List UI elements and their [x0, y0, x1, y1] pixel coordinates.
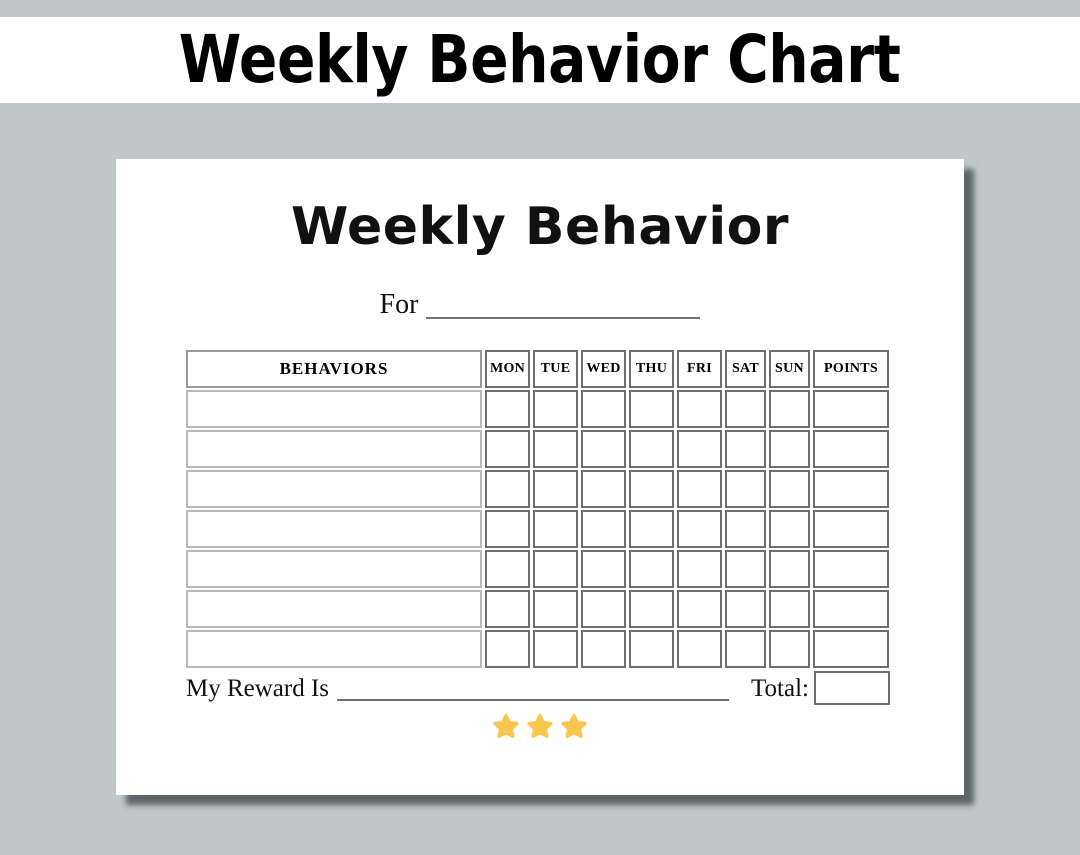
column-header-points: POINTS: [813, 350, 889, 388]
for-label: For: [380, 291, 419, 322]
day-check-cell-sun[interactable]: [769, 510, 810, 548]
reward-write-in-line[interactable]: [337, 699, 729, 701]
star-icon: [525, 711, 555, 746]
behavior-input-cell[interactable]: [186, 630, 482, 668]
star-rating: [186, 711, 894, 746]
day-check-cell-wed[interactable]: [581, 630, 626, 668]
column-header-tue: TUE: [533, 350, 578, 388]
footer-row: My Reward Is Total:: [186, 671, 894, 705]
banner-title: Weekly Behavior Chart: [179, 27, 901, 93]
day-check-cell-tue[interactable]: [533, 470, 578, 508]
points-cell[interactable]: [813, 590, 889, 628]
day-check-cell-wed[interactable]: [581, 470, 626, 508]
table-header-row: BEHAVIORS MON TUE WED THU FRI SAT SUN PO…: [186, 350, 894, 388]
day-check-cell-sun[interactable]: [769, 550, 810, 588]
points-cell[interactable]: [813, 470, 889, 508]
table-row: [186, 510, 894, 548]
behavior-table: BEHAVIORS MON TUE WED THU FRI SAT SUN PO…: [186, 350, 894, 670]
day-check-cell-sun[interactable]: [769, 430, 810, 468]
day-check-cell-thu[interactable]: [629, 590, 674, 628]
day-check-cell-wed[interactable]: [581, 430, 626, 468]
day-check-cell-mon[interactable]: [485, 390, 530, 428]
points-cell[interactable]: [813, 630, 889, 668]
table-row: [186, 390, 894, 428]
day-check-cell-fri[interactable]: [677, 390, 722, 428]
column-header-behaviors: BEHAVIORS: [186, 350, 482, 388]
day-check-cell-fri[interactable]: [677, 430, 722, 468]
points-cell[interactable]: [813, 430, 889, 468]
star-icon: [559, 711, 589, 746]
day-check-cell-sat[interactable]: [725, 510, 766, 548]
day-check-cell-tue[interactable]: [533, 590, 578, 628]
points-cell[interactable]: [813, 550, 889, 588]
day-check-cell-mon[interactable]: [485, 630, 530, 668]
day-check-cell-sat[interactable]: [725, 550, 766, 588]
column-header-mon: MON: [485, 350, 530, 388]
points-cell[interactable]: [813, 510, 889, 548]
printable-chart-card: Weekly Behavior For BEHAVIORS MON TUE WE…: [116, 159, 964, 795]
day-check-cell-wed[interactable]: [581, 390, 626, 428]
day-check-cell-thu[interactable]: [629, 550, 674, 588]
day-check-cell-fri[interactable]: [677, 470, 722, 508]
for-write-in-line[interactable]: [426, 317, 700, 319]
day-check-cell-wed[interactable]: [581, 550, 626, 588]
table-row: [186, 430, 894, 468]
day-check-cell-tue[interactable]: [533, 510, 578, 548]
day-check-cell-wed[interactable]: [581, 510, 626, 548]
day-check-cell-fri[interactable]: [677, 630, 722, 668]
for-row: For: [116, 291, 964, 322]
day-check-cell-sun[interactable]: [769, 390, 810, 428]
day-check-cell-sat[interactable]: [725, 630, 766, 668]
day-check-cell-sat[interactable]: [725, 390, 766, 428]
day-check-cell-sun[interactable]: [769, 630, 810, 668]
banner: Weekly Behavior Chart: [0, 17, 1080, 103]
day-check-cell-sat[interactable]: [725, 470, 766, 508]
behavior-input-cell[interactable]: [186, 550, 482, 588]
column-header-fri: FRI: [677, 350, 722, 388]
day-check-cell-thu[interactable]: [629, 510, 674, 548]
day-check-cell-thu[interactable]: [629, 630, 674, 668]
column-header-sun: SUN: [769, 350, 810, 388]
page-title: Weekly Behavior: [116, 201, 964, 253]
table-row: [186, 630, 894, 668]
total-value-box[interactable]: [814, 671, 890, 705]
table-row: [186, 550, 894, 588]
day-check-cell-mon[interactable]: [485, 550, 530, 588]
column-header-thu: THU: [629, 350, 674, 388]
day-check-cell-mon[interactable]: [485, 510, 530, 548]
star-icon: [491, 711, 521, 746]
reward-label: My Reward Is: [186, 676, 329, 705]
day-check-cell-tue[interactable]: [533, 390, 578, 428]
day-check-cell-fri[interactable]: [677, 550, 722, 588]
day-check-cell-tue[interactable]: [533, 550, 578, 588]
day-check-cell-wed[interactable]: [581, 590, 626, 628]
points-cell[interactable]: [813, 390, 889, 428]
day-check-cell-sat[interactable]: [725, 430, 766, 468]
day-check-cell-fri[interactable]: [677, 510, 722, 548]
day-check-cell-tue[interactable]: [533, 430, 578, 468]
day-check-cell-mon[interactable]: [485, 430, 530, 468]
table-row: [186, 590, 894, 628]
behavior-input-cell[interactable]: [186, 390, 482, 428]
total-label: Total:: [751, 676, 809, 705]
day-check-cell-mon[interactable]: [485, 470, 530, 508]
day-check-cell-thu[interactable]: [629, 430, 674, 468]
table-row: [186, 470, 894, 508]
behavior-input-cell[interactable]: [186, 510, 482, 548]
column-header-sat: SAT: [725, 350, 766, 388]
day-check-cell-sat[interactable]: [725, 590, 766, 628]
behavior-input-cell[interactable]: [186, 470, 482, 508]
day-check-cell-mon[interactable]: [485, 590, 530, 628]
day-check-cell-tue[interactable]: [533, 630, 578, 668]
top-background-strip: [0, 0, 1080, 17]
day-check-cell-sun[interactable]: [769, 590, 810, 628]
behavior-input-cell[interactable]: [186, 430, 482, 468]
day-check-cell-fri[interactable]: [677, 590, 722, 628]
day-check-cell-sun[interactable]: [769, 470, 810, 508]
behavior-input-cell[interactable]: [186, 590, 482, 628]
day-check-cell-thu[interactable]: [629, 390, 674, 428]
day-check-cell-thu[interactable]: [629, 470, 674, 508]
column-header-wed: WED: [581, 350, 626, 388]
